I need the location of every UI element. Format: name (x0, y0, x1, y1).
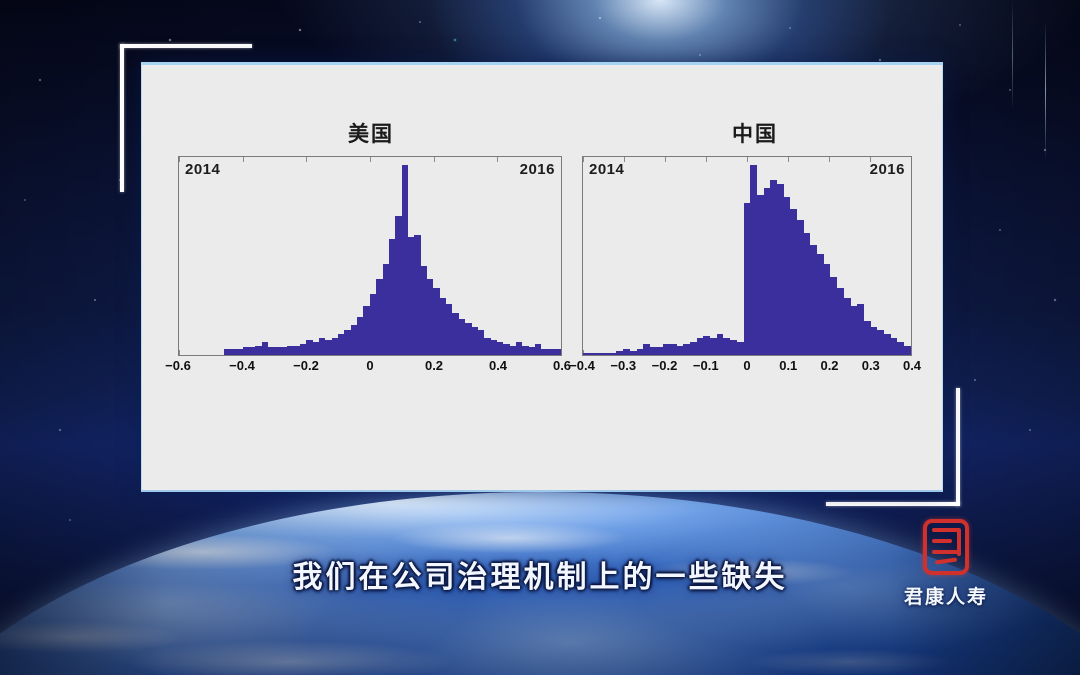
histogram-bar (851, 306, 858, 355)
histogram-bar (554, 349, 560, 355)
histogram-bar (650, 347, 657, 355)
chart-us-plot-box: 2014 2016 (178, 156, 562, 356)
histogram-bar (817, 254, 824, 355)
histogram-bar (830, 277, 837, 355)
chart-cn-plot-wrap: 2014 2016 −0.4−0.3−0.2−0.100.10.20.30.4 (582, 156, 912, 380)
histogram-bar (790, 209, 797, 355)
histogram-bar (777, 184, 784, 355)
x-tick-label: 0.1 (779, 358, 797, 373)
seal-stroke (932, 528, 960, 532)
x-tick-label: −0.6 (165, 358, 191, 373)
bracket-vertical (956, 388, 960, 506)
chart-us: 美国 2014 2016 −0.6−0.4−0.200.20.40.6 (154, 120, 574, 400)
chart-us-year-right: 2016 (520, 161, 555, 178)
histogram-bar (871, 327, 878, 356)
histogram-bar (877, 330, 884, 355)
histogram-bar (643, 344, 650, 355)
x-tick-label: −0.2 (293, 358, 319, 373)
x-tick-label: 0.2 (425, 358, 443, 373)
histogram-bar (623, 349, 630, 355)
chart-us-x-axis: −0.6−0.4−0.200.20.40.6 (178, 358, 562, 380)
histogram-bar (657, 347, 664, 355)
histogram-bar (797, 220, 804, 355)
slide-panel: 美国 2014 2016 −0.6−0.4−0.200.20.40.6 中国 (141, 62, 943, 492)
histogram-bar (630, 351, 637, 355)
histogram-bar (810, 245, 817, 355)
brand-name: 君康人寿 (886, 582, 1006, 609)
histogram-bar (583, 353, 590, 355)
histogram-bar (730, 340, 737, 355)
chart-us-histogram-bars (179, 157, 561, 355)
slide-stage: 美国 2014 2016 −0.6−0.4−0.200.20.40.6 中国 (0, 0, 1080, 675)
x-tick-label: −0.1 (693, 358, 719, 373)
x-tick-label: −0.4 (229, 358, 255, 373)
histogram-bar (770, 180, 777, 355)
histogram-bar (690, 342, 697, 355)
brand-logo: 君康人寿 (886, 519, 1006, 615)
histogram-bar (837, 288, 844, 355)
histogram-bar (757, 195, 764, 355)
jun-kang-seal-icon (923, 519, 969, 575)
seal-stroke (932, 550, 958, 554)
chart-cn: 中国 2014 2016 −0.4−0.3−0.2−0.100.10.20.30… (574, 120, 930, 400)
bracket-horizontal (826, 502, 960, 506)
histogram-bar (683, 344, 690, 355)
histogram-bar (703, 336, 710, 355)
x-tick-label: 0 (743, 358, 750, 373)
histogram-bar (590, 353, 597, 355)
histogram-bar (891, 338, 898, 355)
histogram-bar (764, 188, 771, 355)
x-tick-label: 0.2 (820, 358, 838, 373)
histogram-bar (616, 351, 623, 355)
histogram-bar (723, 338, 730, 355)
chart-us-year-left: 2014 (185, 161, 220, 178)
chart-cn-year-left: 2014 (589, 161, 624, 178)
histogram-bar (904, 346, 911, 356)
histogram-bar (737, 342, 744, 355)
bracket-vertical (120, 44, 124, 192)
chart-us-title: 美国 (168, 120, 574, 150)
histogram-bar (637, 349, 644, 355)
histogram-bar (864, 321, 871, 355)
chart-us-plot-wrap: 2014 2016 −0.6−0.4−0.200.20.40.6 (178, 156, 562, 380)
chart-cn-plot-box: 2014 2016 (582, 156, 912, 356)
histogram-bar (884, 334, 891, 355)
histogram-bar (804, 233, 811, 355)
bracket-horizontal (120, 44, 252, 48)
chart-cn-x-axis: −0.4−0.3−0.2−0.100.10.20.30.4 (582, 358, 912, 380)
chart-cn-year-right: 2016 (870, 161, 905, 178)
histogram-bar (603, 353, 610, 355)
histogram-bar (844, 298, 851, 355)
histogram-bar (710, 338, 717, 355)
histogram-bar (697, 338, 704, 355)
histogram-bar (744, 203, 751, 355)
axis-tick (911, 350, 912, 355)
histogram-bar (670, 344, 677, 355)
axis-tick (561, 350, 562, 355)
chart-area: 美国 2014 2016 −0.6−0.4−0.200.20.40.6 中国 (142, 65, 942, 490)
histogram-bar (750, 165, 757, 355)
histogram-bar (784, 197, 791, 355)
chart-cn-title: 中国 (580, 120, 930, 150)
histogram-bar (677, 346, 684, 356)
x-tick-label: 0.4 (489, 358, 507, 373)
histogram-bar (857, 304, 864, 355)
x-tick-label: 0.4 (903, 358, 921, 373)
histogram-bar (663, 344, 670, 355)
x-tick-label: −0.2 (652, 358, 678, 373)
histogram-bar (596, 353, 603, 355)
axis-tick (911, 157, 912, 162)
seal-stroke (932, 539, 952, 543)
histogram-bar (717, 334, 724, 355)
x-tick-label: −0.3 (610, 358, 636, 373)
x-tick-label: −0.4 (569, 358, 595, 373)
histogram-bar (610, 353, 617, 355)
histogram-bar (824, 264, 831, 355)
axis-tick (561, 157, 562, 162)
histogram-bar (897, 342, 904, 355)
seal-stroke (957, 528, 961, 556)
x-tick-label: 0 (366, 358, 373, 373)
chart-cn-histogram-bars (583, 157, 911, 355)
x-tick-label: 0.3 (862, 358, 880, 373)
